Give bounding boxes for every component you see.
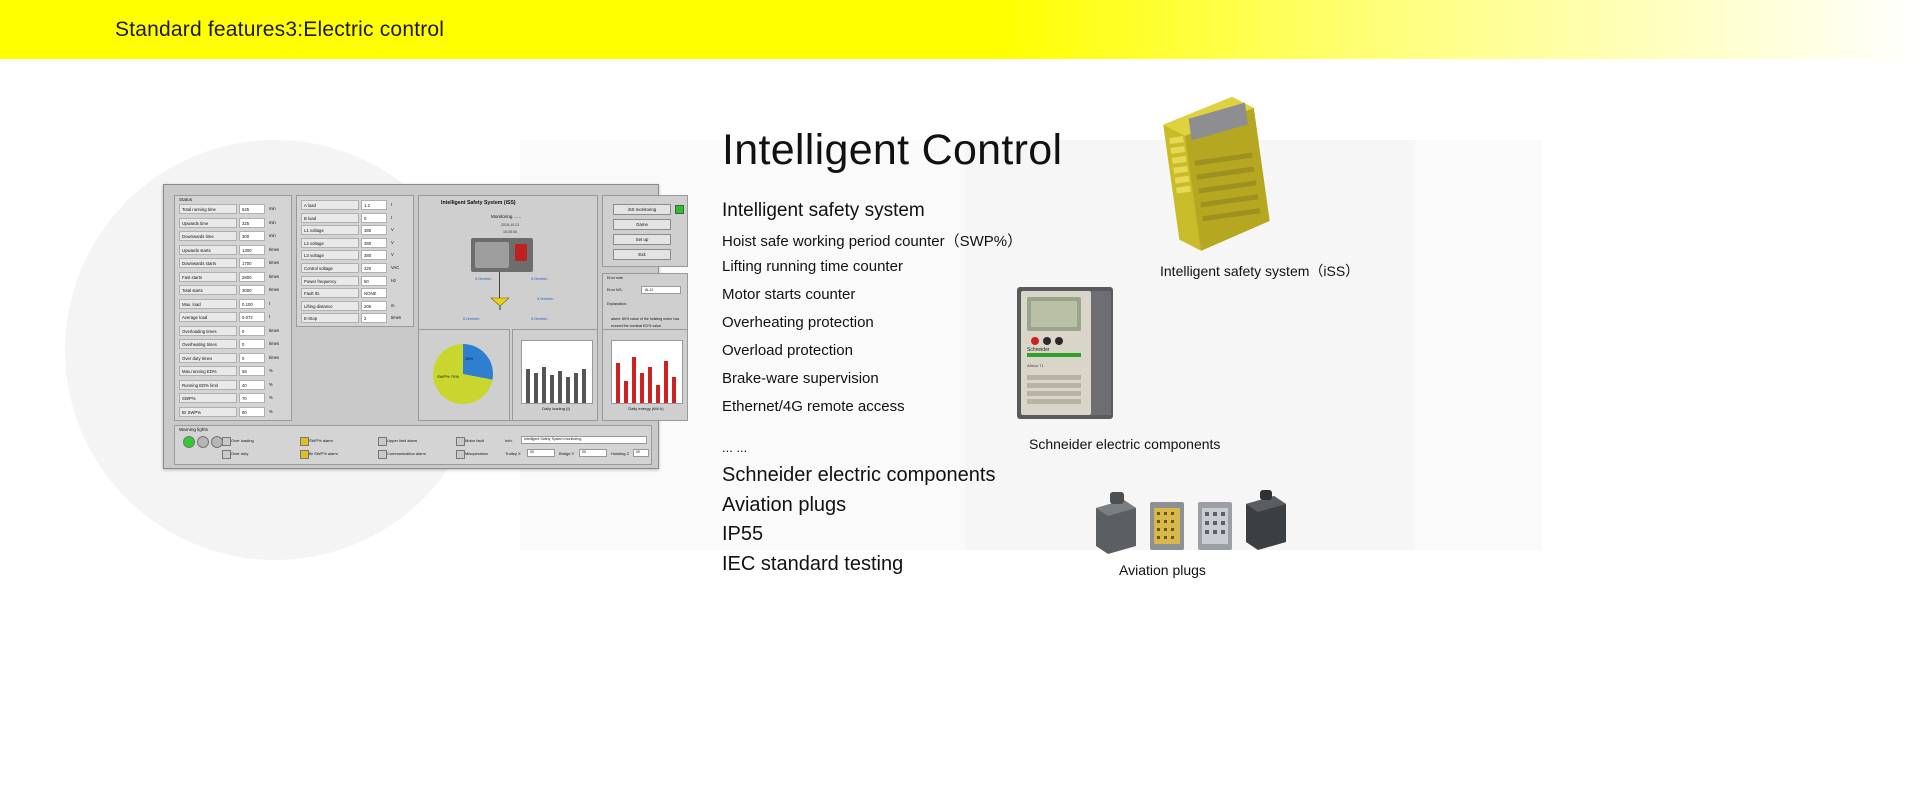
warning-label: Br SWP% alarm (309, 451, 338, 456)
measurement-row-label: B load (301, 213, 359, 223)
measurement-row-unit: V (389, 225, 411, 237)
status-row-label: Total starts (179, 285, 237, 295)
daily-loading-panel: Daily loading (t) (512, 329, 598, 421)
warning-lights-title: Warning lights (179, 427, 208, 432)
status-row-label: Upwards starts (179, 245, 237, 255)
measurement-row-label: Fault ID. (301, 288, 359, 298)
measurement-row-value: 380 (361, 250, 387, 260)
warning-label: Upper limit alarm (387, 438, 417, 443)
measurement-row-unit: V (389, 250, 411, 262)
status-row-label: Running ED% limit (179, 380, 237, 390)
subheading: Intelligent safety system (722, 200, 925, 222)
top-banner: Standard features3:Electric control (0, 0, 1920, 59)
info-field: Intelligent Safety System monitoring (521, 436, 647, 444)
measurement-row-label: A load (301, 200, 359, 210)
svg-text:Altivar 71: Altivar 71 (1027, 363, 1044, 368)
measurement-row-value: 220 (361, 263, 387, 273)
error-no-value: AL12 (645, 288, 653, 292)
trolley-label: Trolley X (505, 451, 521, 456)
status-row-unit: times (267, 326, 289, 338)
feature-item: Brake-ware supervision (722, 370, 879, 387)
monitoring-date: 2019-10-21 (501, 223, 519, 227)
measurement-row-label: Power frequency (301, 276, 359, 286)
hmi-screenshot: Status Total running time625minUpwards t… (163, 184, 659, 469)
aviation-plugs-image (1090, 490, 1290, 560)
chart-bar (656, 385, 660, 403)
measurement-row-label: L1 voltage (301, 225, 359, 235)
status-row-unit: times (267, 353, 289, 365)
hoist-motor (515, 244, 527, 261)
hmi-button[interactable]: Exit (613, 249, 671, 260)
hook-icon (489, 296, 511, 312)
chart-bar (526, 369, 530, 403)
feature-item: Lifting running time counter (722, 258, 903, 275)
status-row-unit: times (267, 258, 289, 270)
measurement-row-label: L3 voltage (301, 250, 359, 260)
status-row-label: Overheating times (179, 339, 237, 349)
chart-bar (582, 369, 586, 403)
feature-item: Overheating protection (722, 314, 874, 331)
speed-readout-4: 0.0m/min (531, 316, 547, 321)
status-led (675, 205, 684, 214)
iss-module-image (1150, 88, 1280, 253)
hoisting-value: 00 (636, 450, 640, 454)
status-row-label: Total running time (179, 204, 237, 214)
warning-indicator (222, 437, 231, 446)
status-row-value: 0 (239, 339, 265, 349)
warning-label: Over loading (231, 438, 254, 443)
status-row-unit: % (267, 380, 289, 392)
hmi-button-panel: iSS monitoringGameSet upExit (602, 195, 688, 267)
chart-bar (632, 357, 636, 403)
measurement-row-unit: V (389, 238, 411, 250)
warning-label: Motor fault (465, 438, 484, 443)
status-row-unit: times (267, 272, 289, 284)
warning-label: SWP% alarm (309, 438, 333, 443)
status-row-unit: % (267, 366, 289, 378)
warning-label: Misoperation (465, 451, 488, 456)
warning-indicator (300, 450, 309, 459)
daily-loading-caption: Daily loading (t) (513, 406, 599, 411)
info-label: Info. (505, 438, 513, 443)
chart-bar (574, 373, 578, 403)
status-row-unit: times (267, 339, 289, 351)
bridge-value: 00 (582, 450, 586, 454)
status-row-value: 40 (239, 380, 265, 390)
status-row-value: 325 (239, 218, 265, 228)
measurement-row-unit: times (389, 313, 411, 325)
daily-loading-chart (521, 340, 593, 404)
status-panel: Status Total running time625minUpwards t… (174, 195, 292, 421)
feature-item: Hoist safe working period counter（SWP%） (722, 230, 1022, 251)
status-row-unit: % (267, 407, 289, 419)
status-row-unit: times (267, 285, 289, 297)
status-row-label: Fast starts (179, 272, 237, 282)
status-row-label: Over duty times (179, 353, 237, 363)
status-row-unit: min (267, 204, 289, 216)
status-row-label: Overloading times (179, 326, 237, 336)
highlight-line: IP55 (722, 523, 763, 546)
speed-readout-5: 0.0m/min (463, 316, 479, 321)
status-row-value: 2800 (239, 272, 265, 282)
warning-lights-panel: Warning lights Over loadingSWP% alarmUpp… (174, 425, 652, 465)
status-row-label: Downwards starts (179, 258, 237, 268)
warning-lamp-green (183, 436, 195, 448)
warning-indicator (378, 450, 387, 459)
status-row-value: 0.100 (239, 299, 265, 309)
status-row-value: 625 (239, 204, 265, 214)
status-panel-title: Status (179, 197, 192, 202)
chart-bar (648, 367, 652, 403)
status-row-label: Average load (179, 312, 237, 322)
schneider-caption: Schneider electric components (1029, 436, 1220, 452)
daily-energy-chart (611, 340, 683, 404)
status-row-label: Max.running ED% (179, 366, 237, 376)
monitoring-title: Intelligent Safety System (iSS) (441, 200, 516, 206)
chart-bar (616, 363, 620, 403)
monitoring-time: 10:35:06 (503, 230, 517, 234)
status-row-unit: t (267, 299, 289, 311)
measurement-row-unit: m (389, 301, 411, 313)
status-row-value: 1300 (239, 245, 265, 255)
status-row-unit: times (267, 245, 289, 257)
error-explanation-text: alarm: 80% value of the hoisting motor h… (611, 316, 683, 330)
pie-label-28: 28% (465, 356, 473, 361)
chart-bar (640, 373, 644, 403)
bridge-label: Bridge Y (559, 451, 574, 456)
daily-energy-panel: Daily energy (kW-h) (602, 329, 688, 421)
feature-item: Ethernet/4G remote access (722, 398, 905, 415)
status-row-unit: min (267, 231, 289, 243)
status-row-label: Max. load (179, 299, 237, 309)
status-row-value: 0.072 (239, 312, 265, 322)
measurement-panel: A load1.2tB load0tL1 voltage380VL2 volta… (296, 195, 414, 327)
ellipsis-text: ... ... (722, 440, 747, 455)
measurement-row-unit: VAC (389, 263, 411, 275)
chart-bar (542, 367, 546, 403)
measurement-row-value: 206 (361, 301, 387, 311)
chart-bar (624, 381, 628, 403)
page-title: Intelligent Control (722, 126, 1062, 175)
measurement-row-value: 2 (361, 313, 387, 323)
warning-indicator (456, 437, 465, 446)
status-row-unit: min (267, 218, 289, 230)
status-row-value: 300 (239, 231, 265, 241)
chart-bar (566, 377, 570, 403)
iss-caption: Intelligent safety system（iSS） (1160, 261, 1359, 281)
hmi-button[interactable]: Set up (613, 234, 671, 245)
warning-label: Over duty (231, 451, 248, 456)
status-row-label: Upwards time (179, 218, 237, 228)
status-row-unit: % (267, 393, 289, 405)
status-row-label: Downwards time (179, 231, 237, 241)
status-row-value: 3000 (239, 285, 265, 295)
chart-bar (558, 371, 562, 403)
pie-label-swp: SWP% 70% (437, 374, 459, 379)
bridge-field: 00 (579, 449, 607, 457)
trolley-field: 00 (527, 449, 555, 457)
speed-readout-2: 0.0m/min (531, 276, 547, 281)
status-row-value: 58 (239, 366, 265, 376)
chart-bar (664, 361, 668, 403)
measurement-row-unit: t (389, 213, 411, 225)
measurement-row-unit: t (389, 200, 411, 212)
measurement-row-value: NONE (361, 288, 387, 298)
status-row-label: Br SWP% (179, 407, 237, 417)
warning-indicator (456, 450, 465, 459)
warning-indicator (300, 437, 309, 446)
chart-bar (550, 375, 554, 403)
measurement-row-unit: Hz (389, 276, 411, 288)
measurement-row-value: 380 (361, 225, 387, 235)
measurement-row-unit (389, 288, 411, 300)
chart-bar (534, 373, 538, 403)
hmi-button[interactable]: Game (613, 219, 671, 230)
highlight-line: Aviation plugs (722, 494, 846, 517)
schneider-drive-image: Schneider Altivar 71 (1013, 283, 1117, 423)
chart-bar (672, 377, 676, 403)
banner-title: Standard features3:Electric control (115, 18, 444, 42)
swp-pie-panel: 28% SWP% 70% (418, 329, 510, 421)
error-explanation-label: Explanation: (607, 302, 627, 306)
status-row-unit: t (267, 312, 289, 324)
hoist-drum (475, 242, 509, 268)
hoist-rope (499, 272, 500, 298)
daily-energy-caption: Daily energy (kW-h) (603, 406, 689, 411)
feature-item: Motor starts counter (722, 286, 855, 303)
hoisting-label: Hoisting Z (611, 451, 629, 456)
status-row-value: 1700 (239, 258, 265, 268)
status-row-label: SWP% (179, 393, 237, 403)
status-row-value: 80 (239, 407, 265, 417)
measurement-row-label: Lifting distance (301, 301, 359, 311)
plugs-caption: Aviation plugs (1119, 562, 1206, 578)
error-no-label: Error NO.: (607, 288, 623, 292)
measurement-row-value: 380 (361, 238, 387, 248)
measurement-row-label: L2 voltage (301, 238, 359, 248)
hmi-button[interactable]: iSS monitoring (613, 204, 671, 215)
measurement-row-label: Control voltage (301, 263, 359, 273)
info-value: Intelligent Safety System monitoring (524, 437, 581, 441)
monitoring-subtitle: Monitoring ...... (491, 214, 521, 219)
speed-readout-3: 0.0m/min (537, 296, 553, 301)
warning-indicator (378, 437, 387, 446)
warning-label: Communication alarm (387, 451, 426, 456)
warning-lamp-grey-1 (197, 436, 209, 448)
status-row-value: 0 (239, 326, 265, 336)
error-no-field: AL12 (641, 286, 681, 294)
measurement-row-label: E-Stop (301, 313, 359, 323)
highlight-line: IEC standard testing (722, 553, 903, 576)
svg-text:Schneider: Schneider (1027, 347, 1050, 353)
error-note-title: Error note (607, 276, 623, 280)
hoisting-field: 00 (633, 449, 649, 457)
feature-item: Overload protection (722, 342, 853, 359)
measurement-row-value: 1.2 (361, 200, 387, 210)
trolley-value: 00 (530, 450, 534, 454)
measurement-row-value: 0 (361, 213, 387, 223)
warning-indicator (222, 450, 231, 459)
speed-readout-1: 0.0m/min (475, 276, 491, 281)
measurement-row-value: 50 (361, 276, 387, 286)
highlight-line: Schneider electric components (722, 464, 995, 487)
status-row-value: 0 (239, 353, 265, 363)
status-row-value: 70 (239, 393, 265, 403)
